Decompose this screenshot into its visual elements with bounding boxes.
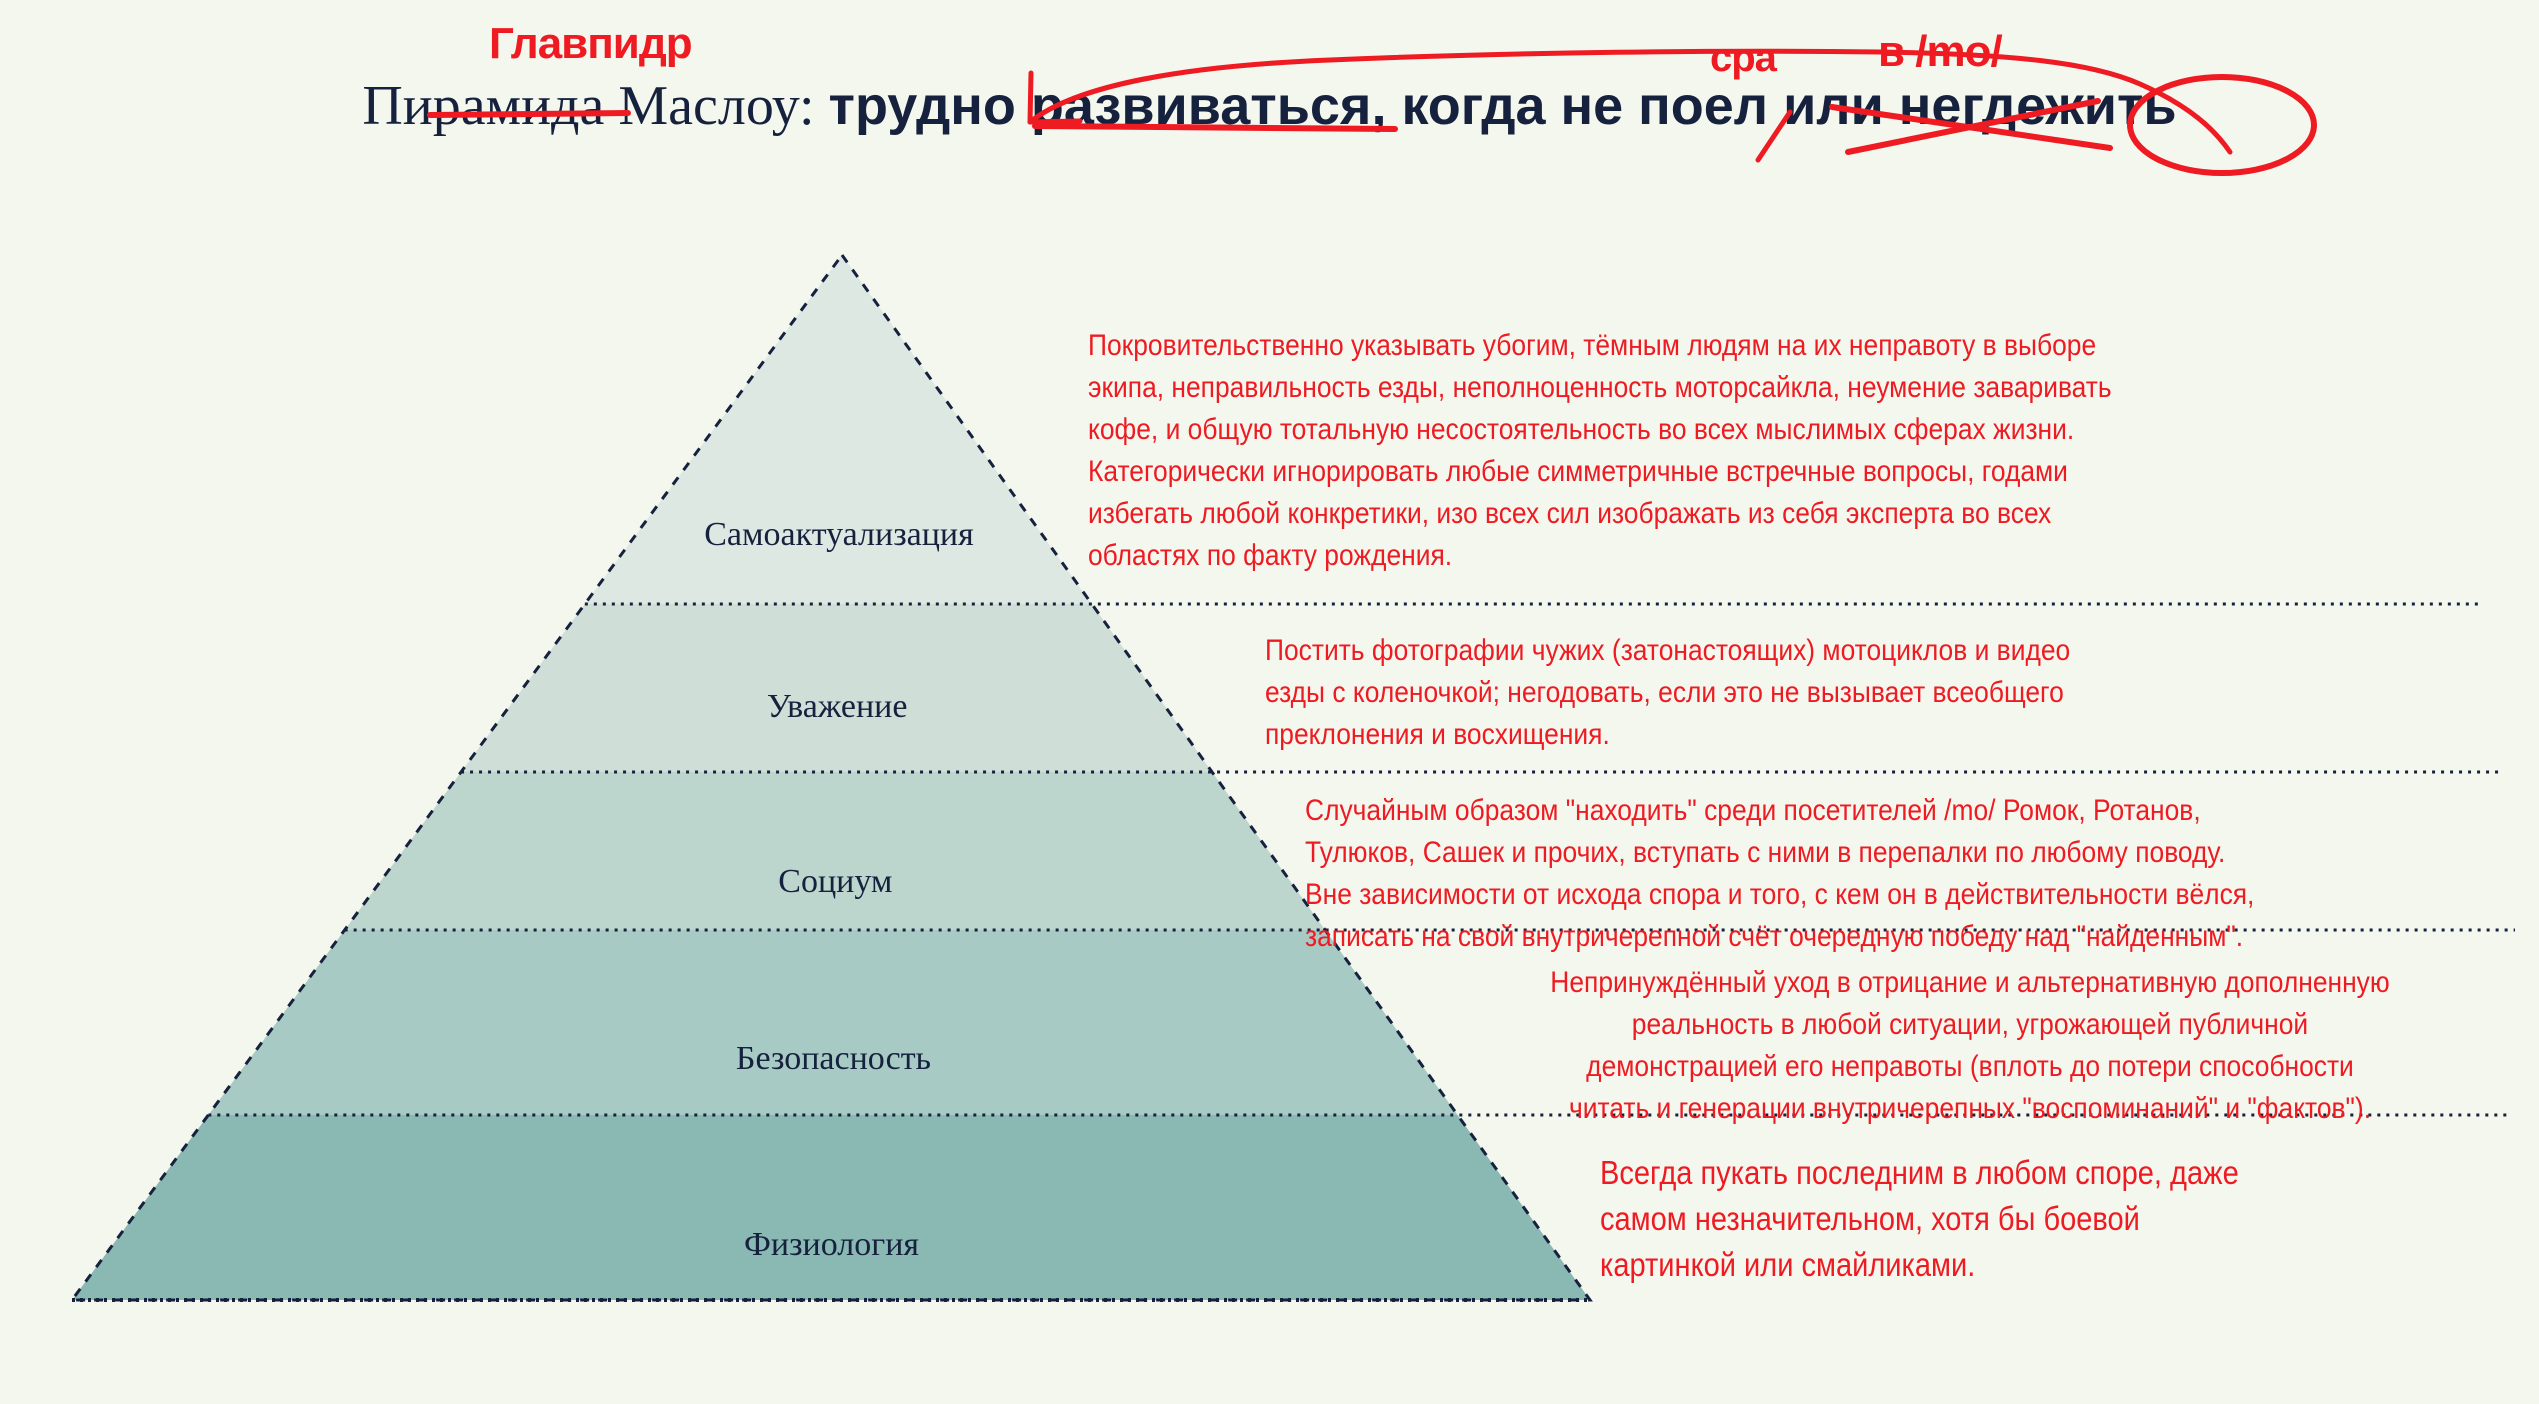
pyramid-level-label: Безопасность xyxy=(736,1040,931,1078)
level-description-esteem: Постить фотографии чужих (затонастоящих)… xyxy=(1265,630,2497,756)
title-serif-prefix: Пирамида xyxy=(362,75,618,137)
pyramid-level-label: Уважение xyxy=(767,688,908,726)
pyramid-level-band xyxy=(72,1115,1590,1300)
title-bold-trudno: трудно xyxy=(829,76,1031,136)
pyramid-level-label: Физиология xyxy=(744,1226,919,1264)
title-colon: : xyxy=(799,75,829,137)
title-struck-maslou: Маслоу xyxy=(618,75,799,137)
page-title: Пирамида Маслоу: трудно развиваться, ког… xyxy=(0,78,2539,134)
level-description-self-actualization: Покровительственно указывать убогим, тём… xyxy=(1088,325,2443,577)
pyramid-level-label: Самоактуализация xyxy=(704,516,974,554)
title-struck-razvivatsya: развиваться xyxy=(1031,76,1372,136)
pyramid-level-band xyxy=(345,772,1326,930)
title-bold-kogda: , когда не поел xyxy=(1371,76,1783,136)
level-description-social: Случайным образом "находить" среди посет… xyxy=(1305,790,2528,958)
pyramid-level-label: Социум xyxy=(778,863,892,901)
level-description-safety: Непринуждённый уход в отрицание и альтер… xyxy=(1398,962,2539,1130)
level-description-physiology: Всегда пукать последним в любом споре, д… xyxy=(1600,1150,2533,1288)
title-circled-zhit: жить xyxy=(2046,76,2177,136)
pyramid-level-band xyxy=(208,930,1457,1115)
title-struck-ili-negde: или негде xyxy=(1783,76,2045,136)
